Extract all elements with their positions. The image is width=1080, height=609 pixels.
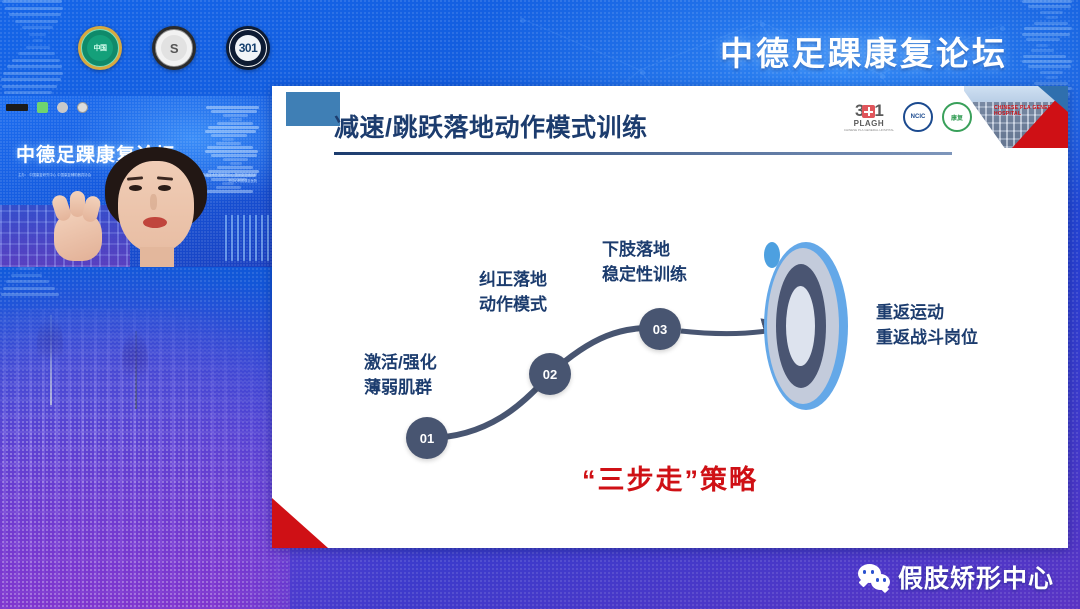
step-label-03-line1: 下肢落地 (602, 238, 687, 263)
goal-label: 重返运动 重返战斗岗位 (876, 301, 978, 350)
emblem-navy-icon: 301 (226, 26, 270, 70)
compass-icon[interactable] (77, 102, 88, 113)
presenter-figure (96, 147, 216, 267)
presenter-hand (48, 205, 106, 261)
goal-label-line1: 重返运动 (876, 301, 978, 326)
tree-decoration (50, 315, 52, 405)
wechat-icon (858, 564, 890, 590)
organization-logo-row: 中国 S 301 (78, 26, 270, 70)
step-label-03-line2: 稳定性训练 (602, 263, 687, 288)
step-label-02-line1: 纠正落地 (479, 268, 547, 293)
emblem-navy-label: 301 (235, 35, 261, 61)
taskbar-clock (6, 104, 28, 111)
emblem-green-label: 中国 (87, 35, 113, 61)
watermark-text: 假肢矫形中心 (898, 559, 1054, 595)
forum-title: 中德足踝康复论坛 (720, 27, 1008, 75)
broadcast-stage: 中国 S 301 中德足踝康复论坛 中德足踝康复论坛 主办： 中国康复研究中心 … (0, 0, 1080, 609)
emblem-silver-label: S (161, 35, 187, 61)
background-campus-photo (0, 309, 290, 609)
presentation-slide: CHINESE PLA GENERAL HOSPITAL 减速/跳跃落地动作模式… (272, 86, 1068, 548)
step-label-03: 下肢落地 稳定性训练 (602, 238, 687, 287)
bullseye-target-graphic (764, 242, 848, 410)
tree-decoration (135, 331, 137, 409)
wechat-icon[interactable] (37, 102, 48, 113)
step-label-02: 纠正落地 动作模式 (479, 268, 547, 317)
step-label-01-line1: 激活/强化 (364, 351, 437, 376)
video-taskbar (6, 102, 88, 113)
presenter-video-tile[interactable]: 中德足踝康复论坛 主办： 中国康复研究中心 中国康复辅助器具协会 承办： 北京市… (0, 96, 277, 267)
step-label-02-line2: 动作模式 (479, 293, 547, 318)
wechat-watermark: 假肢矫形中心 (858, 559, 1054, 595)
step-label-01: 激活/强化 薄弱肌群 (364, 351, 437, 400)
step-label-01-line2: 薄弱肌群 (364, 376, 437, 401)
globe-icon[interactable] (57, 102, 68, 113)
step-circle-01[interactable]: 01 (406, 417, 448, 459)
step-circle-02[interactable]: 02 (529, 353, 571, 395)
emblem-green-gold-icon: 中国 (78, 26, 122, 70)
video-bars-decoration (225, 215, 269, 261)
slide-slogan: “三步走”策略 (272, 458, 1068, 497)
emblem-silver-icon: S (152, 26, 196, 70)
step-circle-03[interactable]: 03 (639, 308, 681, 350)
goal-label-line2: 重返战斗岗位 (876, 326, 978, 351)
